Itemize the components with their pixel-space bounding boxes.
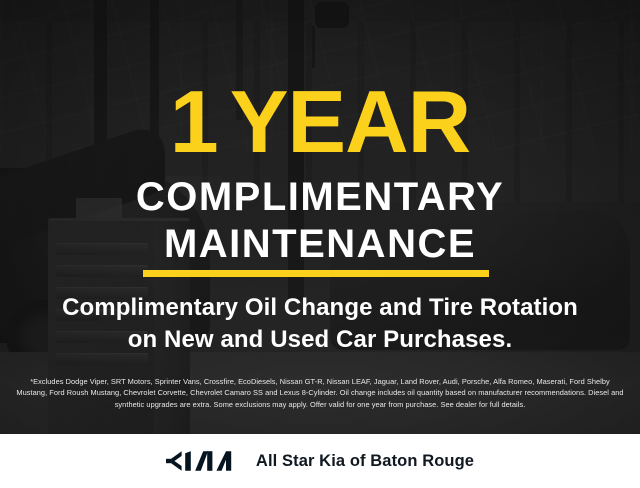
promotional-ad: 1YEAR COMPLIMENTARY MAINTENANCE Complime… <box>0 0 640 488</box>
offer-line-2: on New and Used Car Purchases. <box>0 324 640 356</box>
offer-description: Complimentary Oil Change and Tire Rotati… <box>0 292 640 355</box>
headline-maintenance: MAINTENANCE <box>0 224 640 264</box>
headline-number: 1 <box>170 72 218 171</box>
footer-brand-bar: All Star Kia of Baton Rouge <box>0 434 640 488</box>
yellow-divider-rule <box>143 270 489 277</box>
headline-one-year: 1YEAR <box>0 78 640 166</box>
disclaimer-text: *Excludes Dodge Viper, SRT Motors, Sprin… <box>16 376 624 410</box>
headline-year-word: YEAR <box>230 72 471 171</box>
ad-content: 1YEAR COMPLIMENTARY MAINTENANCE Complime… <box>0 0 640 434</box>
kia-logo <box>166 450 238 472</box>
headline-complimentary: COMPLIMENTARY <box>0 177 640 217</box>
dealer-name: All Star Kia of Baton Rouge <box>256 452 474 471</box>
offer-line-1: Complimentary Oil Change and Tire Rotati… <box>0 292 640 324</box>
